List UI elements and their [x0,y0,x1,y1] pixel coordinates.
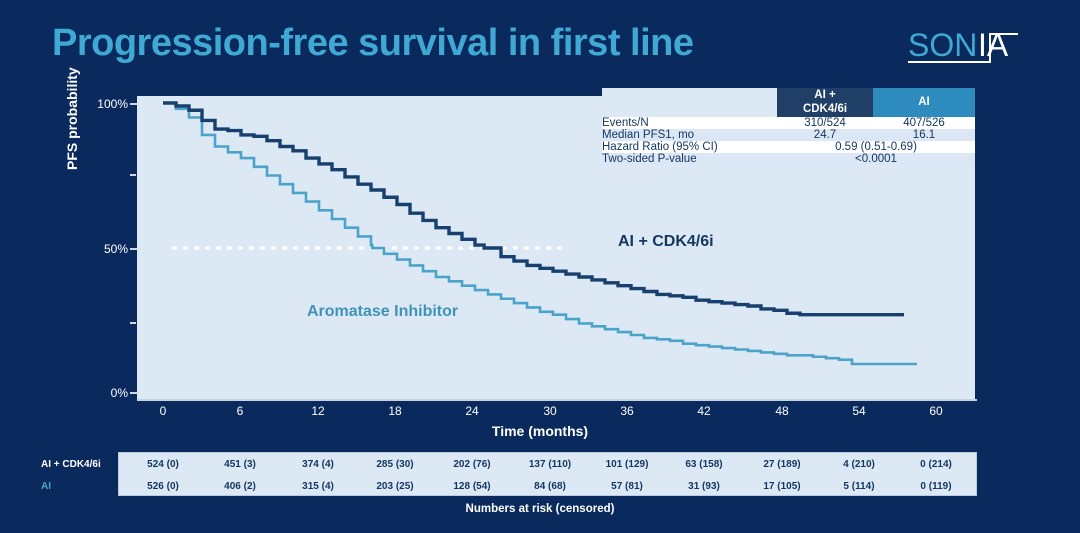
risk-cell: 137 (110) [517,459,583,470]
stats-value-median-combo: 24.7 [777,129,873,141]
stats-label-hazard-ratio: Hazard Ratio (95% CI) [602,141,777,153]
sonia-logo: SON IA [906,24,1046,70]
stats-header-combo-line1: AI + [814,89,835,101]
risk-cell: 406 (2) [207,481,273,492]
risk-cell: 4 (210) [826,459,892,470]
stats-value-events-combo: 310/524 [777,117,873,129]
ai-curve-label: Aromatase Inhibitor [307,303,458,321]
stats-value-hazard-ratio: 0.59 (0.51-0.69) [777,141,975,153]
statistics-table: AI + CDK4/6i AI Events/N 310/524 407/526… [602,88,975,165]
x-tick-12: 12 [298,404,338,418]
y-axis-title: PFS probability [64,67,80,170]
table-row: Events/N 310/524 407/526 [602,117,975,129]
risk-cell: 526 (0) [130,481,196,492]
risk-cell: 17 (105) [749,481,815,492]
x-tick-48: 48 [762,404,802,418]
x-tick-42: 42 [684,404,724,418]
table-row: Median PFS1, mo 24.7 16.1 [602,129,975,141]
risk-cell: 101 (129) [594,459,660,470]
y-tick-100: 100% [78,97,128,111]
risk-cell: 202 (76) [439,459,505,470]
stats-header-row: AI + CDK4/6i AI [602,88,975,117]
stats-label-median-pfs: Median PFS1, mo [602,129,777,141]
y-tick-mark-25 [130,322,136,324]
risk-cell: 5 (114) [826,481,892,492]
stats-value-pvalue: <0.0001 [777,153,975,165]
logo-text-ia: IA [978,27,1009,63]
risk-cell: 0 (119) [903,481,969,492]
stats-value-events-ai: 407/526 [873,117,975,129]
risk-cell: 31 (93) [671,481,737,492]
y-tick-mark-75 [130,174,136,176]
risk-table-caption: Numbers at risk (censored) [0,503,1080,515]
risk-cell: 63 (158) [671,459,737,470]
y-tick-50: 50% [78,242,128,256]
risk-cell: 203 (25) [362,481,428,492]
y-tick-0: 0% [78,386,128,400]
stats-header-blank [602,88,777,117]
risk-cell: 451 (3) [207,459,273,470]
x-tick-0: 0 [143,404,183,418]
stats-header-combo: AI + CDK4/6i [777,88,873,117]
table-row: Two-sided P-value <0.0001 [602,153,975,165]
stats-header-combo-line2: CDK4/6i [803,103,847,115]
table-row: Hazard Ratio (95% CI) 0.59 (0.51-0.69) [602,141,975,153]
combo-curve-label: AI + CDK4/6i [618,233,714,251]
x-tick-36: 36 [607,404,647,418]
x-axis-title: Time (months) [0,423,1080,439]
x-tick-24: 24 [452,404,492,418]
x-tick-18: 18 [375,404,415,418]
logo-text-son: SON [908,27,977,63]
x-tick-60: 60 [916,404,956,418]
stats-label-pvalue: Two-sided P-value [602,153,777,165]
risk-cell: 27 (189) [749,459,815,470]
page-title: Progression-free survival in first line [52,22,694,65]
risk-cell: 57 (81) [594,481,660,492]
risk-cell: 524 (0) [130,459,196,470]
x-tick-54: 54 [839,404,879,418]
stats-header-ai: AI [873,88,975,117]
risk-cell: 128 (54) [439,481,505,492]
x-tick-30: 30 [530,404,570,418]
risk-cell: 84 (68) [517,481,583,492]
risk-row-label-ai: AI [41,481,51,492]
risk-cell: 285 (30) [362,459,428,470]
stats-value-median-ai: 16.1 [873,129,975,141]
x-tick-6: 6 [220,404,260,418]
risk-cell: 315 (4) [285,481,351,492]
risk-cell: 374 (4) [285,459,351,470]
risk-row-label-combo: AI + CDK4/6i [41,459,101,470]
stats-label-events: Events/N [602,117,777,129]
risk-cell: 0 (214) [903,459,969,470]
